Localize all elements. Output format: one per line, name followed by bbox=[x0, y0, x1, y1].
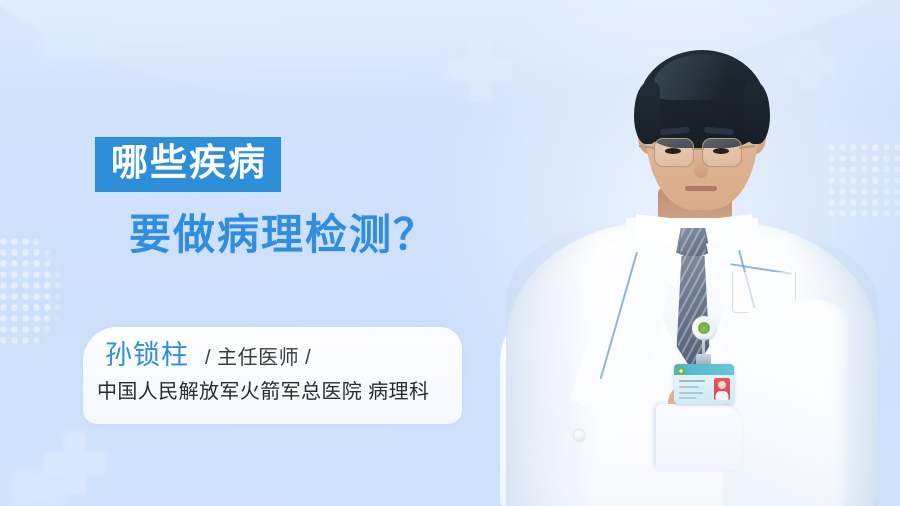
doctor-portrait bbox=[486, 0, 900, 506]
eyeglasses-bridge bbox=[692, 148, 704, 150]
doctor-identity-row: 孙锁柱 / 主任医师 / bbox=[105, 340, 311, 373]
doctor-info-panel: 孙锁柱 / 主任医师 / 中国人民解放军火箭军总医院 病理科 bbox=[83, 327, 462, 424]
hair-sideburn-right bbox=[744, 82, 770, 144]
soft-blob-lower-left bbox=[10, 468, 66, 506]
badge-text-line bbox=[679, 397, 696, 399]
title-line-2-text: 要做病理检测？ bbox=[129, 210, 437, 260]
badge-id-card bbox=[674, 364, 734, 404]
coat-side-pocket bbox=[656, 404, 742, 470]
doctor-affiliation: 中国人民解放军火箭军总医院 病理科 bbox=[97, 379, 429, 405]
hair-sideburn-left bbox=[634, 82, 660, 144]
badge-text-line bbox=[679, 386, 699, 388]
mouth bbox=[685, 186, 717, 191]
soft-blob-upper-left bbox=[40, 18, 110, 62]
doctor-rank: / 主任医师 / bbox=[205, 343, 311, 373]
eye-right bbox=[713, 148, 729, 154]
badge-text-line bbox=[679, 380, 705, 382]
coat-button-side bbox=[574, 430, 585, 441]
hospital-logo-icon bbox=[677, 367, 685, 375]
badge-portrait-photo bbox=[714, 378, 730, 400]
title-line-1-highlight: 哪些疾病 bbox=[95, 137, 281, 192]
eye-left bbox=[665, 148, 681, 154]
coat-right-arm bbox=[722, 300, 848, 506]
title-line-1-text: 哪些疾病 bbox=[111, 142, 267, 183]
doctor-name: 孙锁柱 bbox=[105, 340, 189, 370]
dot-grid-left-decoration bbox=[0, 236, 82, 348]
video-thumbnail-canvas: 哪些疾病 要做病理检测？ 孙锁柱 / 主任医师 / 中国人民解放军火箭军总医院 … bbox=[0, 0, 900, 506]
badge-text-line bbox=[679, 392, 703, 394]
nose bbox=[694, 156, 708, 178]
badge-retractable-reel bbox=[692, 316, 716, 340]
